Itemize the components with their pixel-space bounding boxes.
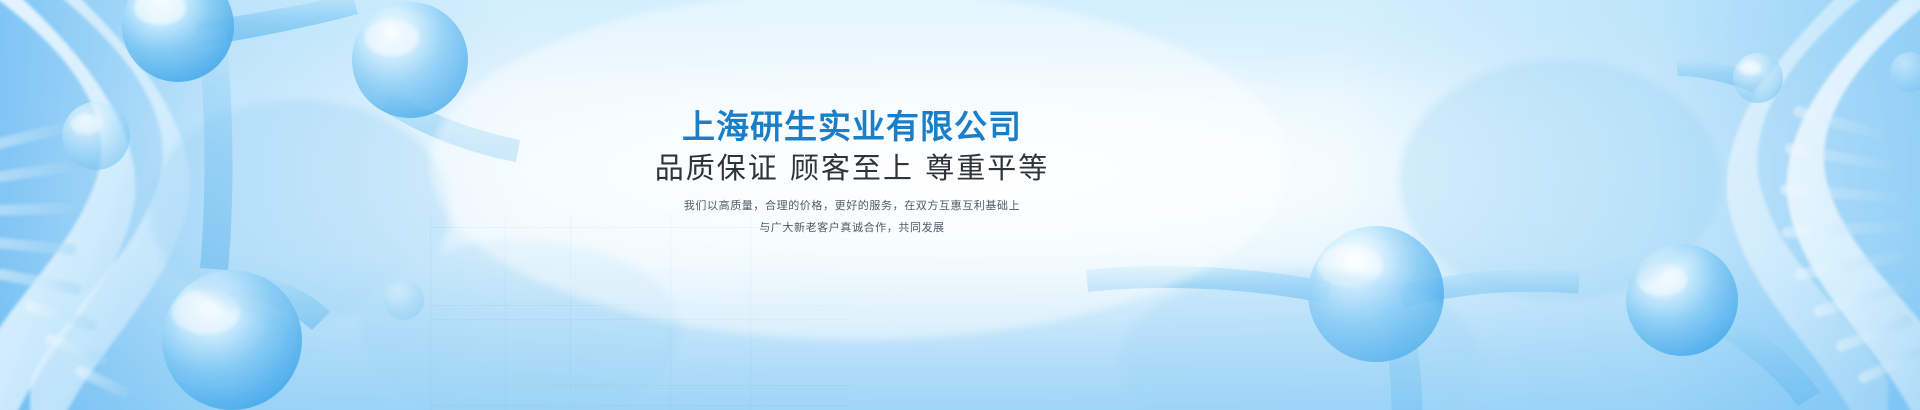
description-line-2: 与广大新老客户真诚合作，共同发展 [0,217,1812,239]
company-title: 上海研生实业有限公司 [0,108,1812,147]
banner-text-block: 上海研生实业有限公司 品质保证 顾客至上 尊重平等 我们以高质量，合理的价格，更… [0,108,1812,239]
company-hero-banner: 上海研生实业有限公司 品质保证 顾客至上 尊重平等 我们以高质量，合理的价格，更… [0,0,1920,410]
company-description: 我们以高质量，合理的价格，更好的服务，在双方互惠互利基础上 与广大新老客户真诚合… [0,195,1812,239]
description-line-1: 我们以高质量，合理的价格，更好的服务，在双方互惠互利基础上 [0,195,1812,217]
laboratory-grid-pattern [430,215,850,410]
company-tagline: 品质保证 顾客至上 尊重平等 [0,151,1812,186]
